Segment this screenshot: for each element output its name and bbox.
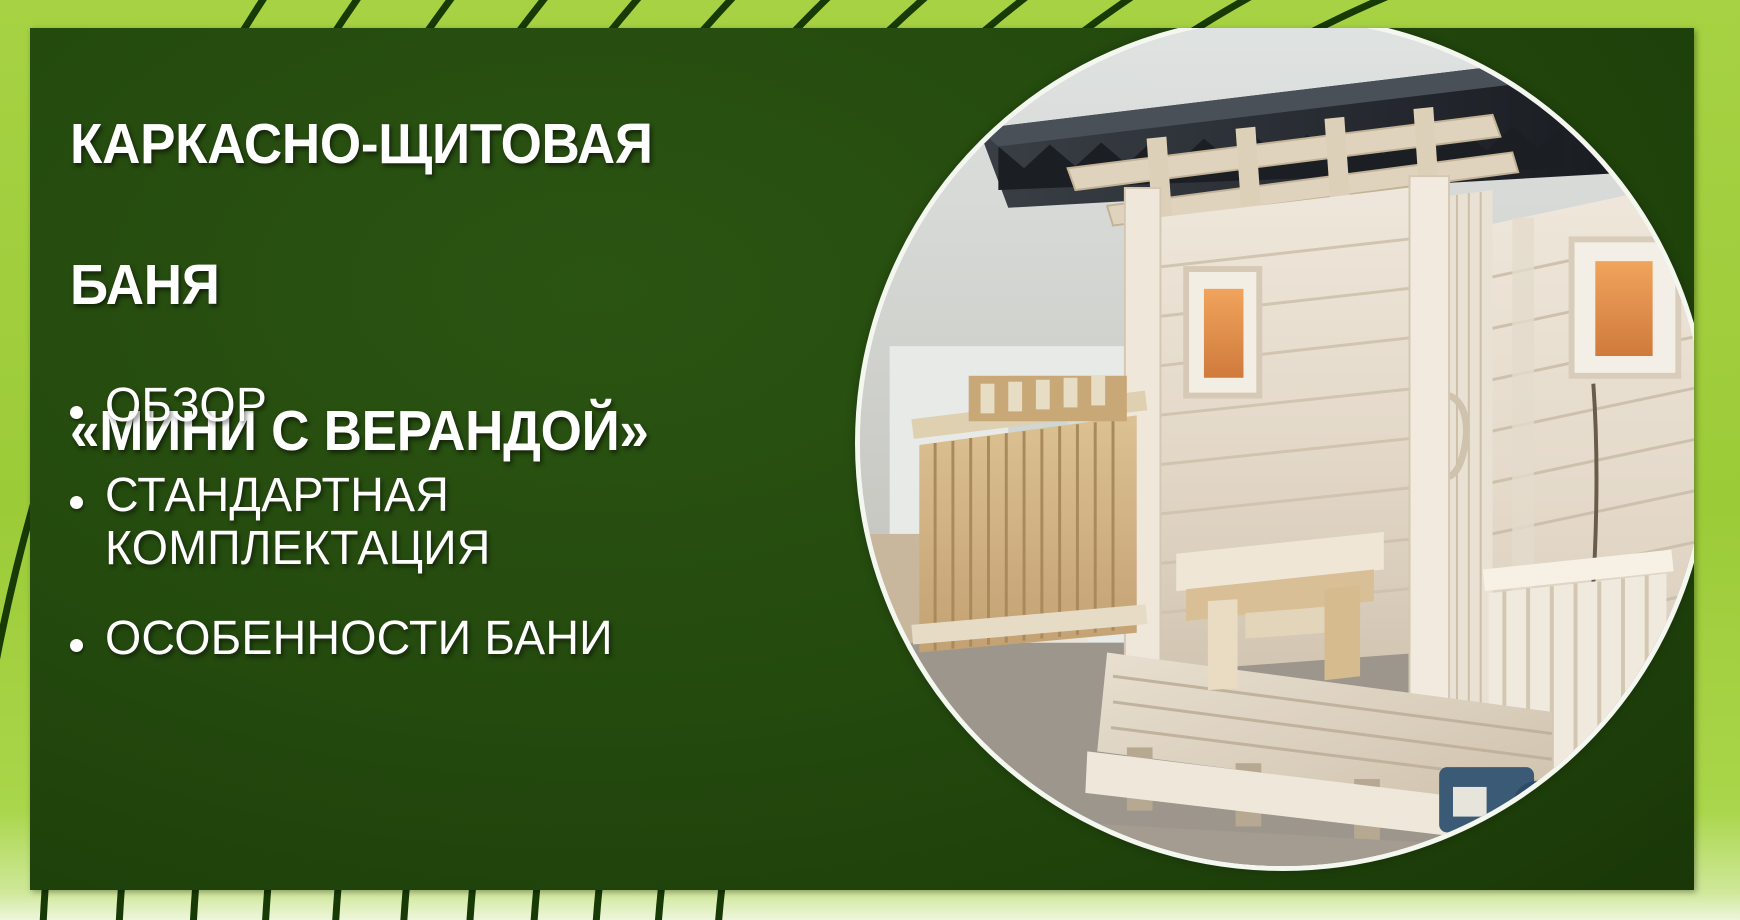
bullet-dot-icon (70, 496, 83, 509)
slide-root: КАРКАСНО-ЩИТОВАЯ БАНЯ «МИНИ С ВЕРАНДОЙ» … (0, 0, 1740, 920)
bullet-dot-icon (70, 406, 83, 419)
content-panel: КАРКАСНО-ЩИТОВАЯ БАНЯ «МИНИ С ВЕРАНДОЙ» … (30, 28, 1694, 890)
list-item: СТАНДАРТНАЯ КОМПЛЕКТАЦИЯ (70, 470, 840, 575)
title-line-2: БАНЯ (70, 256, 777, 315)
bullet-label-1: ОБЗОР (105, 380, 267, 432)
product-photo-circle (855, 28, 1694, 871)
bullet-label-3: ОСОБЕННОСТИ БАНИ (105, 613, 613, 665)
bullet-list: ОБЗОР СТАНДАРТНАЯ КОМПЛЕКТАЦИЯ ОСОБЕННОС… (70, 380, 840, 703)
bullet-dot-icon (70, 639, 83, 652)
list-item: ОСОБЕННОСТИ БАНИ (70, 613, 840, 665)
bullet-label-2: СТАНДАРТНАЯ КОМПЛЕКТАЦИЯ (105, 470, 491, 575)
list-item: ОБЗОР (70, 380, 840, 432)
title-line-1: КАРКАСНО-ЩИТОВАЯ (70, 115, 777, 174)
